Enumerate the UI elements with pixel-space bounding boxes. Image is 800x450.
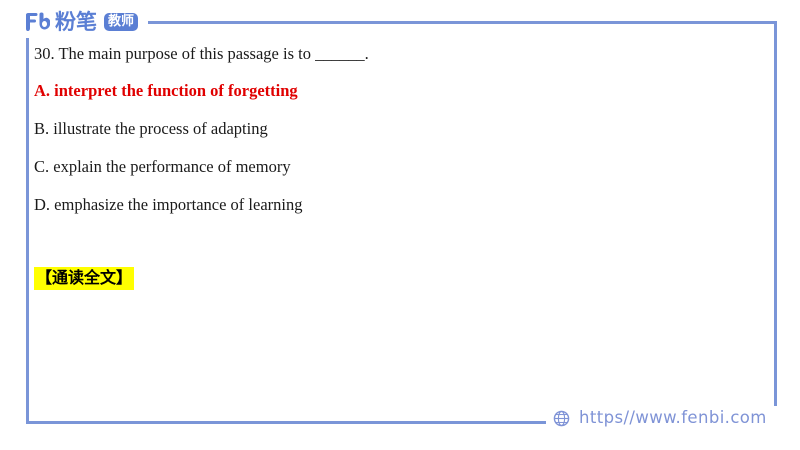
option-d[interactable]: D. emphasize the importance of learning [34,194,302,215]
footer-url-block: https//www.fenbi.com [553,409,767,427]
brand-badge: 教师 [104,13,138,31]
globe-icon [553,410,570,427]
slide-canvas: 粉笔 教师 30. The main purpose of this passa… [0,0,800,450]
question-stem: 30. The main purpose of this passage is … [34,43,369,64]
frame-right-line [774,21,777,406]
frame-top-line [148,21,777,24]
brand-logo: 粉笔 教师 [24,9,138,35]
frame-left-line [26,38,29,424]
option-b[interactable]: B. illustrate the process of adapting [34,118,268,139]
option-a[interactable]: A. interpret the function of forgetting [34,80,298,101]
brand-word: 粉笔 [55,11,97,33]
option-c[interactable]: C. explain the performance of memory [34,156,291,177]
fb-logo-icon [24,12,50,32]
highlighted-note: 【通读全文】 [34,267,134,290]
footer-url-text[interactable]: https//www.fenbi.com [579,409,767,427]
frame-bottom-line [26,421,546,424]
